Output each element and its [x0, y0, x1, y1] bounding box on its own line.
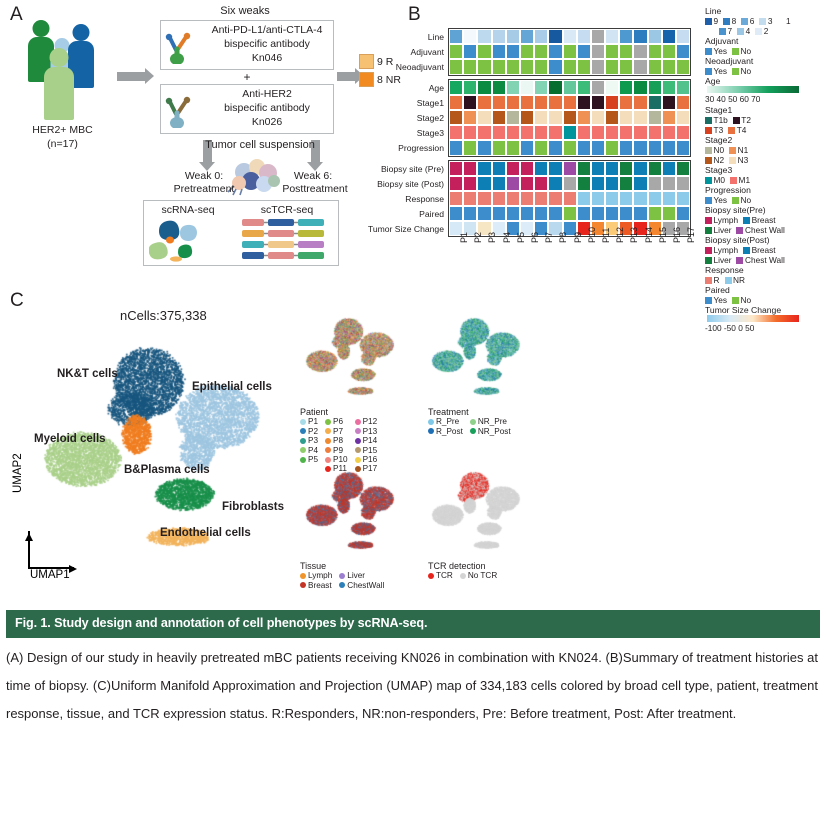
heatmap-cell[interactable]: [633, 44, 647, 59]
heatmap-cell[interactable]: [492, 125, 506, 140]
heatmap-cell[interactable]: [619, 206, 633, 221]
heatmap-cell[interactable]: [463, 95, 477, 110]
heatmap-cell[interactable]: [463, 161, 477, 176]
legend-item[interactable]: Breast: [743, 245, 775, 255]
heatmap-cell[interactable]: [534, 110, 548, 125]
heatmap-cell[interactable]: [676, 95, 690, 110]
heatmap-cell[interactable]: [662, 59, 676, 74]
heatmap-cell[interactable]: [605, 59, 619, 74]
heatmap-cell[interactable]: [619, 80, 633, 95]
heatmap-cell[interactable]: [477, 206, 491, 221]
legend-item[interactable]: R_Pre: [428, 417, 463, 426]
heatmap-cell[interactable]: [577, 176, 591, 191]
heatmap-cell[interactable]: [463, 176, 477, 191]
heatmap-cell[interactable]: [577, 80, 591, 95]
heatmap-cell[interactable]: [633, 176, 647, 191]
legend-item[interactable]: M0: [705, 175, 725, 185]
legend-item[interactable]: 8: [723, 16, 736, 26]
legend-item[interactable]: P7: [325, 427, 348, 436]
heatmap-cell[interactable]: [534, 95, 548, 110]
heatmap-cell[interactable]: [563, 59, 577, 74]
heatmap-cell[interactable]: [633, 125, 647, 140]
heatmap-cell[interactable]: [477, 95, 491, 110]
legend-item[interactable]: NR: [725, 275, 745, 285]
legend-item[interactable]: No: [732, 46, 751, 56]
legend-item[interactable]: P17: [355, 464, 378, 473]
heatmap-cell[interactable]: [449, 140, 463, 155]
heatmap-cell[interactable]: [577, 161, 591, 176]
heatmap-cell[interactable]: [662, 80, 676, 95]
heatmap-cell[interactable]: [662, 140, 676, 155]
heatmap-row-label: Tumor Size Change: [368, 224, 444, 234]
heatmap-cell[interactable]: [534, 29, 548, 44]
legend-swatch: [778, 18, 785, 25]
heatmap-cell[interactable]: [605, 125, 619, 140]
heatmap-cell[interactable]: [534, 206, 548, 221]
legend-dot: [300, 457, 306, 463]
heatmap-cell[interactable]: [591, 95, 605, 110]
legend-item[interactable]: Breast: [743, 215, 775, 225]
heatmap-cell[interactable]: [492, 191, 506, 206]
heatmap-cell[interactable]: [648, 59, 662, 74]
heatmap-cell[interactable]: [463, 206, 477, 221]
legend-title: Neoadjuvant: [705, 56, 753, 66]
heatmap-cell[interactable]: [449, 125, 463, 140]
heatmap-cell[interactable]: [619, 176, 633, 191]
heatmap-cell[interactable]: [619, 44, 633, 59]
legend-swatch: [705, 227, 712, 234]
heatmap-cell[interactable]: [605, 29, 619, 44]
heatmap-cell[interactable]: [591, 44, 605, 59]
heatmap-cell[interactable]: [477, 161, 491, 176]
legend-item[interactable]: P11: [325, 464, 348, 473]
heatmap-cell[interactable]: [633, 95, 647, 110]
heatmap-cell[interactable]: [619, 191, 633, 206]
outcome-swatch-nr: [359, 72, 374, 87]
legend-item[interactable]: 9: [705, 16, 718, 26]
legend-item[interactable]: P4: [300, 446, 318, 455]
legend-title: Stage3: [705, 165, 732, 175]
heatmap-cell[interactable]: [633, 59, 647, 74]
legend-item[interactable]: T2: [733, 115, 751, 125]
legend-title: Tissue: [300, 562, 391, 571]
heatmap-cell[interactable]: [563, 191, 577, 206]
legend-item[interactable]: P3: [300, 436, 318, 445]
heatmap-cell[interactable]: [548, 80, 562, 95]
heatmap-cell[interactable]: [676, 140, 690, 155]
heatmap-cell[interactable]: [477, 110, 491, 125]
heatmap-cell[interactable]: [648, 140, 662, 155]
heatmap-cell[interactable]: [676, 176, 690, 191]
heatmap-cell[interactable]: [463, 44, 477, 59]
legend-item[interactable]: T3: [705, 125, 723, 135]
heatmap-cell[interactable]: [605, 44, 619, 59]
legend-dot: [339, 573, 345, 579]
heatmap-cell[interactable]: [492, 95, 506, 110]
legend-item[interactable]: TCR: [428, 571, 453, 580]
heatmap-cell[interactable]: [648, 191, 662, 206]
legend-item[interactable]: Lymph: [705, 245, 738, 255]
heatmap-cell[interactable]: [463, 59, 477, 74]
heatmap-cell[interactable]: [662, 95, 676, 110]
heatmap-cell[interactable]: [619, 110, 633, 125]
legend-item[interactable]: Lymph: [300, 571, 332, 580]
heatmap-cell[interactable]: [619, 95, 633, 110]
heatmap-cell[interactable]: [662, 176, 676, 191]
legend-item[interactable]: P2: [300, 427, 318, 436]
heatmap-cell[interactable]: [591, 161, 605, 176]
heatmap-cell[interactable]: [619, 29, 633, 44]
heatmap-cell[interactable]: [492, 29, 506, 44]
heatmap-cell[interactable]: [662, 110, 676, 125]
heatmap-cell[interactable]: [676, 206, 690, 221]
legend-item[interactable]: P14: [355, 436, 378, 445]
legend-item[interactable]: Yes: [705, 46, 727, 56]
heatmap-cell[interactable]: [506, 110, 520, 125]
heatmap-cell[interactable]: [506, 44, 520, 59]
legend-item[interactable]: Liver: [705, 225, 731, 235]
legend-item[interactable]: T1b: [705, 115, 728, 125]
heatmap-cell[interactable]: [506, 176, 520, 191]
legend-item[interactable]: Liver: [705, 255, 731, 265]
heatmap-cell[interactable]: [477, 125, 491, 140]
heatmap-cell[interactable]: [506, 161, 520, 176]
legend-item[interactable]: NR_Pre: [470, 417, 511, 426]
heatmap-cell[interactable]: [449, 44, 463, 59]
heatmap-cell[interactable]: [449, 80, 463, 95]
legend-label: R: [714, 275, 720, 285]
legend-swatch: [736, 257, 743, 264]
heatmap-cell[interactable]: [534, 161, 548, 176]
legend-swatch: [729, 147, 736, 154]
heatmap-cell[interactable]: [633, 191, 647, 206]
legend-item[interactable]: NR_Post: [470, 427, 511, 436]
legend-title: Adjuvant: [705, 36, 738, 46]
heatmap-cell[interactable]: [548, 125, 562, 140]
heatmap-cell[interactable]: [463, 110, 477, 125]
legend-item[interactable]: P15: [355, 446, 378, 455]
heatmap-cell[interactable]: [577, 125, 591, 140]
heatmap-cell[interactable]: [591, 191, 605, 206]
heatmap-cell[interactable]: [463, 191, 477, 206]
heatmap-col-label: P10: [587, 227, 597, 243]
heatmap-cell[interactable]: [577, 191, 591, 206]
heatmap-cell[interactable]: [577, 140, 591, 155]
heatmap-cell[interactable]: [506, 206, 520, 221]
heatmap-cell[interactable]: [676, 44, 690, 59]
umap-axis-x-label: UMAP1: [30, 569, 70, 581]
legend-item[interactable]: R: [705, 275, 720, 285]
heatmap-cell[interactable]: [520, 59, 534, 74]
heatmap-cell[interactable]: [591, 140, 605, 155]
legend-item[interactable]: ChestWall: [339, 581, 384, 590]
heatmap-cell[interactable]: [492, 140, 506, 155]
heatmap-cell[interactable]: [605, 80, 619, 95]
legend-item[interactable]: Chest Wall: [736, 225, 784, 235]
legend-item[interactable]: 2: [755, 26, 768, 36]
heatmap-cell[interactable]: [676, 191, 690, 206]
heatmap-cell[interactable]: [506, 140, 520, 155]
heatmap-cell[interactable]: [662, 206, 676, 221]
heatmap-cell[interactable]: [534, 59, 548, 74]
heatmap-cell[interactable]: [520, 29, 534, 44]
heatmap-cell[interactable]: [662, 29, 676, 44]
heatmap-cell[interactable]: [662, 161, 676, 176]
heatmap-cell[interactable]: [605, 95, 619, 110]
legend-item[interactable]: P1: [300, 417, 318, 426]
heatmap-cell[interactable]: [591, 29, 605, 44]
heatmap-cell[interactable]: [676, 161, 690, 176]
legend-item[interactable]: P16: [355, 455, 378, 464]
heatmap-cell[interactable]: [548, 206, 562, 221]
heatmap-cell[interactable]: [619, 140, 633, 155]
heatmap-cell[interactable]: [534, 80, 548, 95]
heatmap-cell[interactable]: [633, 29, 647, 44]
heatmap-cell[interactable]: [591, 80, 605, 95]
heatmap-cell[interactable]: [648, 80, 662, 95]
heatmap-cell[interactable]: [548, 95, 562, 110]
legend-item[interactable]: N3: [729, 155, 748, 165]
heatmap-cell[interactable]: [449, 95, 463, 110]
legend-item[interactable]: No TCR: [460, 571, 497, 580]
heatmap-cell[interactable]: [449, 161, 463, 176]
heatmap-cell[interactable]: [477, 29, 491, 44]
heatmap-row: [449, 140, 690, 155]
legend-item[interactable]: No: [732, 66, 751, 76]
heatmap-cell[interactable]: [591, 59, 605, 74]
heatmap-cell[interactable]: [463, 29, 477, 44]
heatmap-cell[interactable]: [633, 206, 647, 221]
heatmap-cell[interactable]: [662, 44, 676, 59]
heatmap-cell[interactable]: [648, 110, 662, 125]
drug2-line3: Kn026: [201, 116, 333, 129]
heatmap-cell[interactable]: [548, 110, 562, 125]
legend-label: NR_Post: [478, 427, 511, 436]
heatmap-cell[interactable]: [563, 161, 577, 176]
legend-item[interactable]: 1: [778, 16, 791, 26]
heatmap-cell[interactable]: [563, 95, 577, 110]
heatmap-cell[interactable]: [534, 44, 548, 59]
legend-item[interactable]: N1: [729, 145, 748, 155]
heatmap-cell[interactable]: [633, 140, 647, 155]
heatmap-cell[interactable]: [548, 140, 562, 155]
heatmap-cell[interactable]: [591, 206, 605, 221]
legend-item[interactable]: T4: [728, 125, 746, 135]
legend-title: Patient: [300, 408, 384, 417]
heatmap-cell[interactable]: [548, 191, 562, 206]
heatmap-cell[interactable]: [534, 140, 548, 155]
heatmap-cell[interactable]: [449, 29, 463, 44]
heatmap-cell[interactable]: [506, 125, 520, 140]
legend-item[interactable]: 7: [719, 26, 732, 36]
heatmap-cell[interactable]: [534, 191, 548, 206]
heatmap-cell[interactable]: [534, 125, 548, 140]
legend-item[interactable]: P8: [325, 436, 348, 445]
legend-item[interactable]: M1: [730, 175, 750, 185]
heatmap-cell[interactable]: [548, 176, 562, 191]
heatmap-cell[interactable]: [577, 59, 591, 74]
legend-item[interactable]: P5: [300, 455, 318, 464]
legend-dot: [339, 582, 345, 588]
heatmap-cell[interactable]: [477, 80, 491, 95]
heatmap-cell[interactable]: [520, 191, 534, 206]
heatmap-cell[interactable]: [520, 176, 534, 191]
heatmap-cell[interactable]: [463, 80, 477, 95]
heatmap-cell[interactable]: [648, 29, 662, 44]
heatmap-cell[interactable]: [563, 29, 577, 44]
heatmap-cell[interactable]: [648, 95, 662, 110]
heatmap-cell[interactable]: [676, 110, 690, 125]
umap-mini-tissue: [292, 460, 414, 556]
heatmap-cell[interactable]: [477, 176, 491, 191]
legend-swatch: [733, 117, 740, 124]
heatmap-cell[interactable]: [676, 125, 690, 140]
heatmap-cell[interactable]: [477, 140, 491, 155]
legend-item[interactable]: P10: [325, 455, 348, 464]
heatmap-cell[interactable]: [520, 80, 534, 95]
heatmap-cell[interactable]: [662, 191, 676, 206]
heatmap-cell[interactable]: [506, 191, 520, 206]
heatmap-cell[interactable]: [577, 95, 591, 110]
heatmap-cell[interactable]: [648, 44, 662, 59]
heatmap-cell[interactable]: [563, 44, 577, 59]
heatmap-cell[interactable]: [492, 161, 506, 176]
heatmap-cell[interactable]: [506, 29, 520, 44]
heatmap-cell[interactable]: [520, 95, 534, 110]
heatmap-cell[interactable]: [605, 176, 619, 191]
heatmap-cell[interactable]: [492, 206, 506, 221]
heatmap-cell[interactable]: [492, 44, 506, 59]
legend-swatch: [705, 217, 712, 224]
legend-item[interactable]: Liver: [339, 571, 384, 580]
heatmap-cell[interactable]: [633, 80, 647, 95]
legend-dot: [325, 466, 331, 472]
heatmap-row: [449, 161, 690, 176]
heatmap-cell[interactable]: [520, 110, 534, 125]
heatmap-cell[interactable]: [676, 59, 690, 74]
heatmap-cell[interactable]: [449, 206, 463, 221]
legend-title: Biopsy site(Post): [705, 235, 769, 245]
legend-item[interactable]: P12: [355, 417, 378, 426]
heatmap-cell[interactable]: [548, 59, 562, 74]
heatmap-cell[interactable]: [633, 110, 647, 125]
heatmap-cell[interactable]: [676, 29, 690, 44]
legend-item[interactable]: 3: [759, 16, 772, 26]
legend-item[interactable]: No: [732, 195, 751, 205]
heatmap-cell[interactable]: [477, 44, 491, 59]
heatmap-cell[interactable]: [563, 140, 577, 155]
heatmap-cell[interactable]: [591, 125, 605, 140]
outcome-swatch-r: [359, 54, 374, 69]
legend-item[interactable]: P9: [325, 446, 348, 455]
heatmap-cell[interactable]: [605, 140, 619, 155]
heatmap-cell[interactable]: [563, 80, 577, 95]
heatmap-cell[interactable]: [648, 161, 662, 176]
heatmap-cell[interactable]: [605, 206, 619, 221]
heatmap-cell[interactable]: [563, 176, 577, 191]
heatmap-cell[interactable]: [662, 125, 676, 140]
legend-item[interactable]: Yes: [705, 66, 727, 76]
heatmap-cell[interactable]: [449, 176, 463, 191]
heatmap-cell[interactable]: [520, 161, 534, 176]
heatmap-cell[interactable]: [477, 191, 491, 206]
heatmap-cell[interactable]: [449, 59, 463, 74]
legend-label: P12: [363, 417, 378, 426]
heatmap-cell[interactable]: [577, 206, 591, 221]
heatmap-cell[interactable]: [591, 110, 605, 125]
heatmap-cell[interactable]: [520, 140, 534, 155]
heatmap-cell[interactable]: [605, 191, 619, 206]
heatmap-cell[interactable]: [463, 125, 477, 140]
legend-item[interactable]: 6: [741, 16, 754, 26]
heatmap-cell[interactable]: [520, 44, 534, 59]
legend-swatch: [759, 18, 766, 25]
legend-label: R_Pre: [436, 417, 459, 426]
legend-dot: [300, 573, 306, 579]
heatmap-cell[interactable]: [506, 95, 520, 110]
heatmap-cell[interactable]: [591, 176, 605, 191]
heatmap-cell[interactable]: [577, 110, 591, 125]
heatmap-cell[interactable]: [449, 110, 463, 125]
heatmap-cell[interactable]: [520, 206, 534, 221]
week0-line1: Weak 0:: [155, 170, 253, 183]
heatmap-cell[interactable]: [619, 59, 633, 74]
heatmap-cell[interactable]: [563, 110, 577, 125]
legend-item[interactable]: Yes: [705, 195, 727, 205]
heatmap-cell[interactable]: [563, 206, 577, 221]
legend-item[interactable]: Chest Wall: [736, 255, 784, 265]
heatmap-cell[interactable]: [492, 80, 506, 95]
heatmap-cell[interactable]: [492, 110, 506, 125]
heatmap-cell[interactable]: [506, 59, 520, 74]
legend-columns: TCRNo TCR: [428, 571, 504, 580]
heatmap-cell[interactable]: [548, 161, 562, 176]
heatmap-cell[interactable]: [648, 176, 662, 191]
heatmap-cell[interactable]: [676, 80, 690, 95]
heatmap-cell[interactable]: [633, 161, 647, 176]
heatmap-cell[interactable]: [534, 176, 548, 191]
heatmap-cell[interactable]: [449, 191, 463, 206]
heatmap-cell[interactable]: [577, 29, 591, 44]
heatmap-cell[interactable]: [492, 176, 506, 191]
heatmap-cell[interactable]: [548, 44, 562, 59]
legend-item[interactable]: N2: [705, 155, 724, 165]
heatmap-cell[interactable]: [648, 206, 662, 221]
heatmap-cell[interactable]: [605, 110, 619, 125]
heatmap-cell[interactable]: [648, 125, 662, 140]
heatmap-cell[interactable]: [520, 125, 534, 140]
heatmap-cell[interactable]: [463, 140, 477, 155]
heatmap-cell[interactable]: [619, 161, 633, 176]
heatmap-cell[interactable]: [563, 125, 577, 140]
legend-item[interactable]: P13: [355, 427, 378, 436]
legend-item[interactable]: R_Post: [428, 427, 463, 436]
legend-item[interactable]: N0: [705, 145, 724, 155]
heatmap-cell[interactable]: [577, 44, 591, 59]
legend-column: LymphBreast: [300, 571, 332, 590]
heatmap-cell[interactable]: [477, 59, 491, 74]
legend-item[interactable]: Lymph: [705, 215, 738, 225]
heatmap-cell[interactable]: [605, 161, 619, 176]
heatmap-cell[interactable]: [548, 29, 562, 44]
legend-item[interactable]: Breast: [300, 581, 332, 590]
heatmap-cell[interactable]: [506, 80, 520, 95]
heatmap-cell[interactable]: [619, 125, 633, 140]
legend-item[interactable]: P6: [325, 417, 348, 426]
legend-item[interactable]: 4: [737, 26, 750, 36]
heatmap-cell[interactable]: [492, 59, 506, 74]
legend-dot: [300, 438, 306, 444]
